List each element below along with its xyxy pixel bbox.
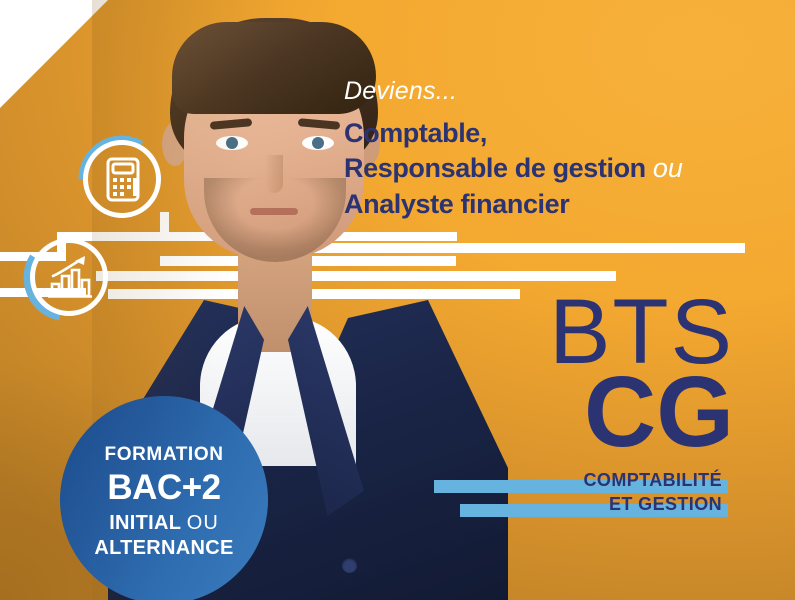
program-subtitle: COMPTABILITÉ ET GESTION — [430, 468, 770, 517]
photo-pupil-right — [312, 137, 324, 149]
headline-line-2: Responsable de gestion ou — [344, 151, 784, 187]
headline-line-2-main: Responsable de gestion — [344, 153, 646, 183]
headline-conjunction: ou — [653, 153, 683, 183]
badge-conjunction: OU — [187, 512, 219, 534]
badge-line-formation: FORMATION — [104, 443, 223, 467]
headline-line-1: Comptable, — [344, 116, 784, 152]
calculator-icon-badge — [83, 140, 161, 218]
badge-line-initial: INITIAL OU — [109, 511, 219, 536]
formation-badge: FORMATION BAC+2 INITIAL OU ALTERNANCE — [60, 396, 268, 600]
program-subtitle-line-1: COMPTABILITÉ — [430, 468, 722, 492]
growth-chart-icon — [30, 238, 108, 316]
program-subtitle-line-2: ET GESTION — [430, 492, 722, 516]
subtitle-text-1: COMPTABILITÉ — [584, 470, 722, 490]
badge-line-level: BAC+2 — [107, 467, 220, 509]
poster-canvas: Deviens... Comptable, Responsable de ges… — [0, 0, 795, 600]
subtitle-text-2: ET GESTION — [609, 494, 722, 514]
program-acronym-line-2: CG — [430, 370, 770, 454]
headline-line-3: Analyste financier — [344, 187, 784, 223]
badge-initial-text: INITIAL — [109, 512, 181, 534]
calculator-icon — [83, 140, 161, 218]
photo-pupil-left — [226, 137, 238, 149]
headline-block: Deviens... Comptable, Responsable de ges… — [344, 78, 784, 222]
growth-chart-icon-badge — [30, 238, 108, 316]
badge-line-alternance: ALTERNANCE — [94, 536, 233, 561]
photo-nose — [265, 155, 283, 193]
photo-mouth — [250, 208, 298, 215]
program-block: BTS CG COMPTABILITÉ ET GESTION — [430, 296, 770, 516]
photo-jacket-button — [342, 558, 357, 573]
headline-kicker: Deviens... — [344, 78, 784, 106]
